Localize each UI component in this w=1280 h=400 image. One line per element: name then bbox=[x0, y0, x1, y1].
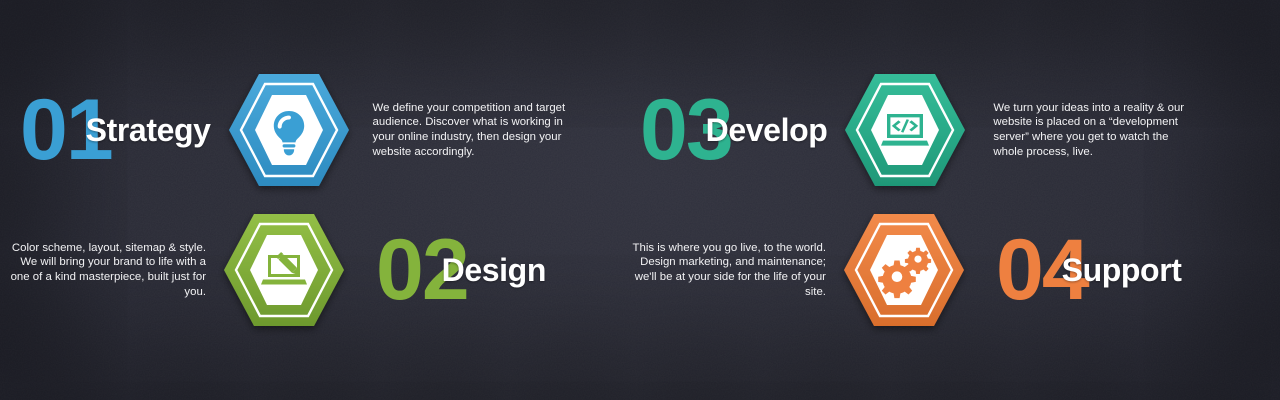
step-panel-develop: 03 Develop bbox=[640, 55, 1230, 205]
step-title-support: Support bbox=[1062, 254, 1182, 286]
step-lockup-strategy: 01 Strategy bbox=[20, 80, 211, 180]
step-panel-strategy: 01 Strategy bbox=[20, 55, 610, 205]
step-lockup-develop: 03 Develop bbox=[640, 80, 827, 180]
step-description-strategy: We define your competition and target au… bbox=[373, 101, 569, 159]
step-title-design: Design bbox=[442, 254, 546, 286]
step-badge-support[interactable] bbox=[842, 208, 966, 332]
infographic-canvas: 01 Strategy bbox=[0, 0, 1280, 400]
step-description-support: This is where you go live, to the world.… bbox=[630, 241, 826, 299]
step-description-develop: We turn your ideas into a reality & our … bbox=[993, 101, 1189, 159]
step-badge-design[interactable] bbox=[222, 208, 346, 332]
step-description-design: Color scheme, layout, sitemap & style. W… bbox=[10, 241, 206, 299]
step-lockup-design: 02 Design bbox=[376, 220, 546, 320]
step-badge-strategy[interactable] bbox=[227, 68, 351, 192]
step-title-strategy: Strategy bbox=[86, 114, 211, 146]
step-badge-develop[interactable] bbox=[843, 68, 967, 192]
step-panel-support: This is where you go live, to the world.… bbox=[630, 195, 1220, 345]
step-lockup-support: 04 Support bbox=[996, 220, 1182, 320]
step-panel-design: Color scheme, layout, sitemap & style. W… bbox=[10, 195, 600, 345]
step-title-develop: Develop bbox=[706, 114, 828, 146]
